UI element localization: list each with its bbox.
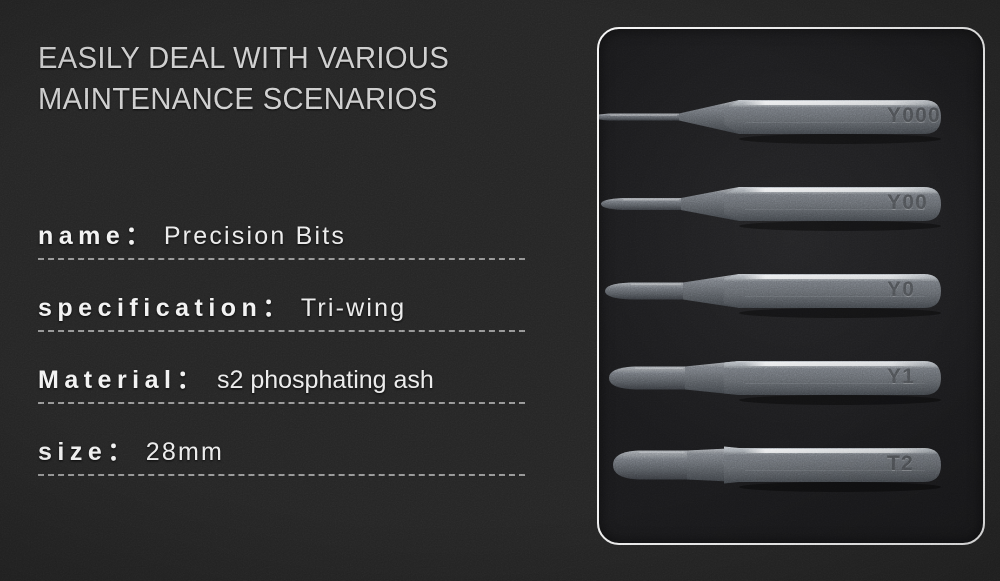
bit-shadow [739, 221, 941, 231]
spec-value: Tri-wing [301, 294, 407, 323]
spec-inner: specification：Tri-wing [38, 288, 406, 330]
bit-highlight [743, 275, 929, 279]
bit-shank [724, 361, 941, 395]
spec-row: specification：Tri-wing [38, 260, 525, 332]
bit-highlight [743, 449, 929, 453]
screwdriver-bit: Y0 [599, 251, 985, 331]
spec-inner: name：Precision Bits [38, 216, 346, 258]
spec-value: s2 phosphating ash [217, 366, 434, 395]
screwdriver-bit: T2 [599, 425, 985, 505]
spec-inner: Material：s2 phosphating ash [38, 360, 434, 402]
bit-facet-line [745, 383, 925, 384]
bit-shank [724, 187, 941, 221]
bit-shadow [739, 395, 941, 405]
headline-line-2: MAINTENANCE SCENARIOS [38, 79, 517, 120]
page-title: EASILY DEAL WITH VARIOUS MAINTENANCE SCE… [38, 38, 517, 120]
bit-tip [605, 283, 683, 300]
copy-column: EASILY DEAL WITH VARIOUS MAINTENANCE SCE… [0, 0, 580, 581]
bit-tip-highlight [635, 368, 683, 370]
spec-row: size：28mm [38, 404, 525, 476]
bit-shadow [739, 308, 941, 318]
spec-value: 28mm [146, 438, 224, 467]
screwdriver-bit: Y00 [599, 164, 985, 244]
product-image-panel: Y000 [597, 27, 985, 545]
spec-list: name：Precision Bitsspecification：Tri-win… [38, 188, 525, 476]
headline-line-1: EASILY DEAL WITH VARIOUS [38, 38, 517, 79]
screwdriver-bit: Y1 [599, 338, 985, 418]
screwdriver-bit: Y000 [599, 77, 985, 157]
spec-row: Material：s2 phosphating ash [38, 332, 525, 404]
bit-highlight [743, 188, 929, 192]
spec-row: name：Precision Bits [38, 188, 525, 260]
bit-tip-highlight [639, 452, 685, 454]
bit-facet-line [745, 296, 925, 297]
bit-shank [724, 100, 941, 134]
bit-facet-line [745, 209, 925, 210]
bit-facet-line [745, 470, 925, 471]
bit-collection: Y000 [599, 29, 983, 543]
bit-tip [609, 367, 685, 390]
bit-tip [613, 451, 687, 480]
spec-label: name： [38, 216, 156, 252]
spec-label: Material： [38, 360, 207, 396]
bit-tip-highlight [623, 199, 679, 201]
bit-highlight [743, 101, 929, 105]
spec-label: specification： [38, 288, 293, 324]
product-banner: EASILY DEAL WITH VARIOUS MAINTENANCE SCE… [0, 0, 1000, 581]
bit-tip-highlight [631, 284, 681, 286]
spec-inner: size：28mm [38, 432, 224, 474]
spec-label: size： [38, 432, 138, 468]
bit-shank [724, 274, 941, 308]
bit-shadow [739, 134, 941, 144]
bit-highlight [743, 362, 929, 366]
spec-value: Precision Bits [164, 222, 346, 251]
bit-shadow [739, 482, 941, 492]
bit-facet-line [745, 122, 925, 123]
bit-tip-highlight [610, 115, 677, 117]
